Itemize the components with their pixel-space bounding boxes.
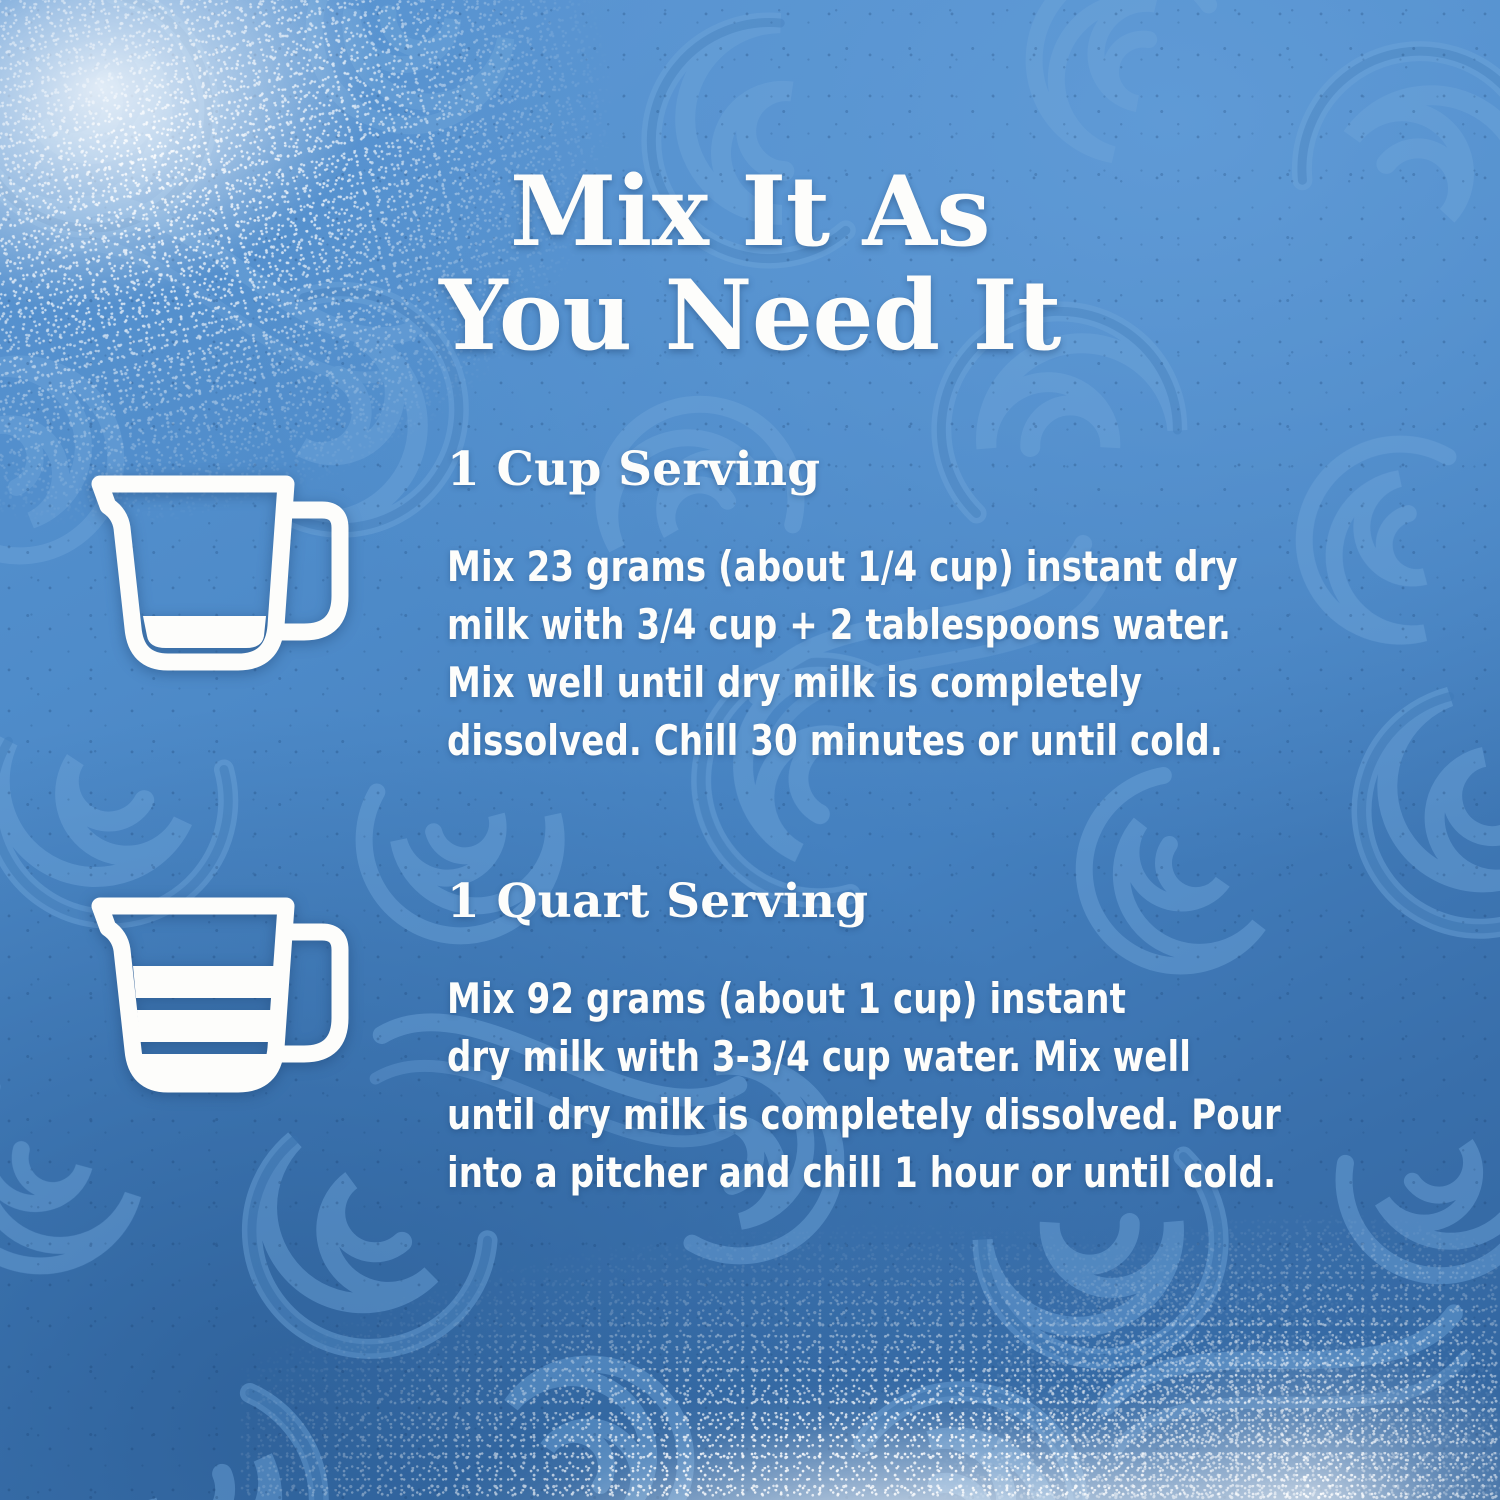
measuring-cup-one-cup-icon bbox=[86, 466, 368, 688]
section-body-one-cup: Mix 23 grams (about 1/4 cup) instant dry… bbox=[447, 538, 1238, 770]
product-infographic: Mix It As You Need It 1 Cup S bbox=[0, 0, 1500, 1500]
section-body-one-quart: Mix 92 grams (about 1 cup) instant dry m… bbox=[447, 970, 1281, 1202]
page-title: Mix It As You Need It bbox=[0, 160, 1500, 368]
section-heading-one-cup: 1 Cup Serving bbox=[447, 443, 820, 497]
section-heading-one-quart: 1 Quart Serving bbox=[447, 875, 868, 929]
measuring-cup-one-quart-icon bbox=[86, 888, 368, 1110]
